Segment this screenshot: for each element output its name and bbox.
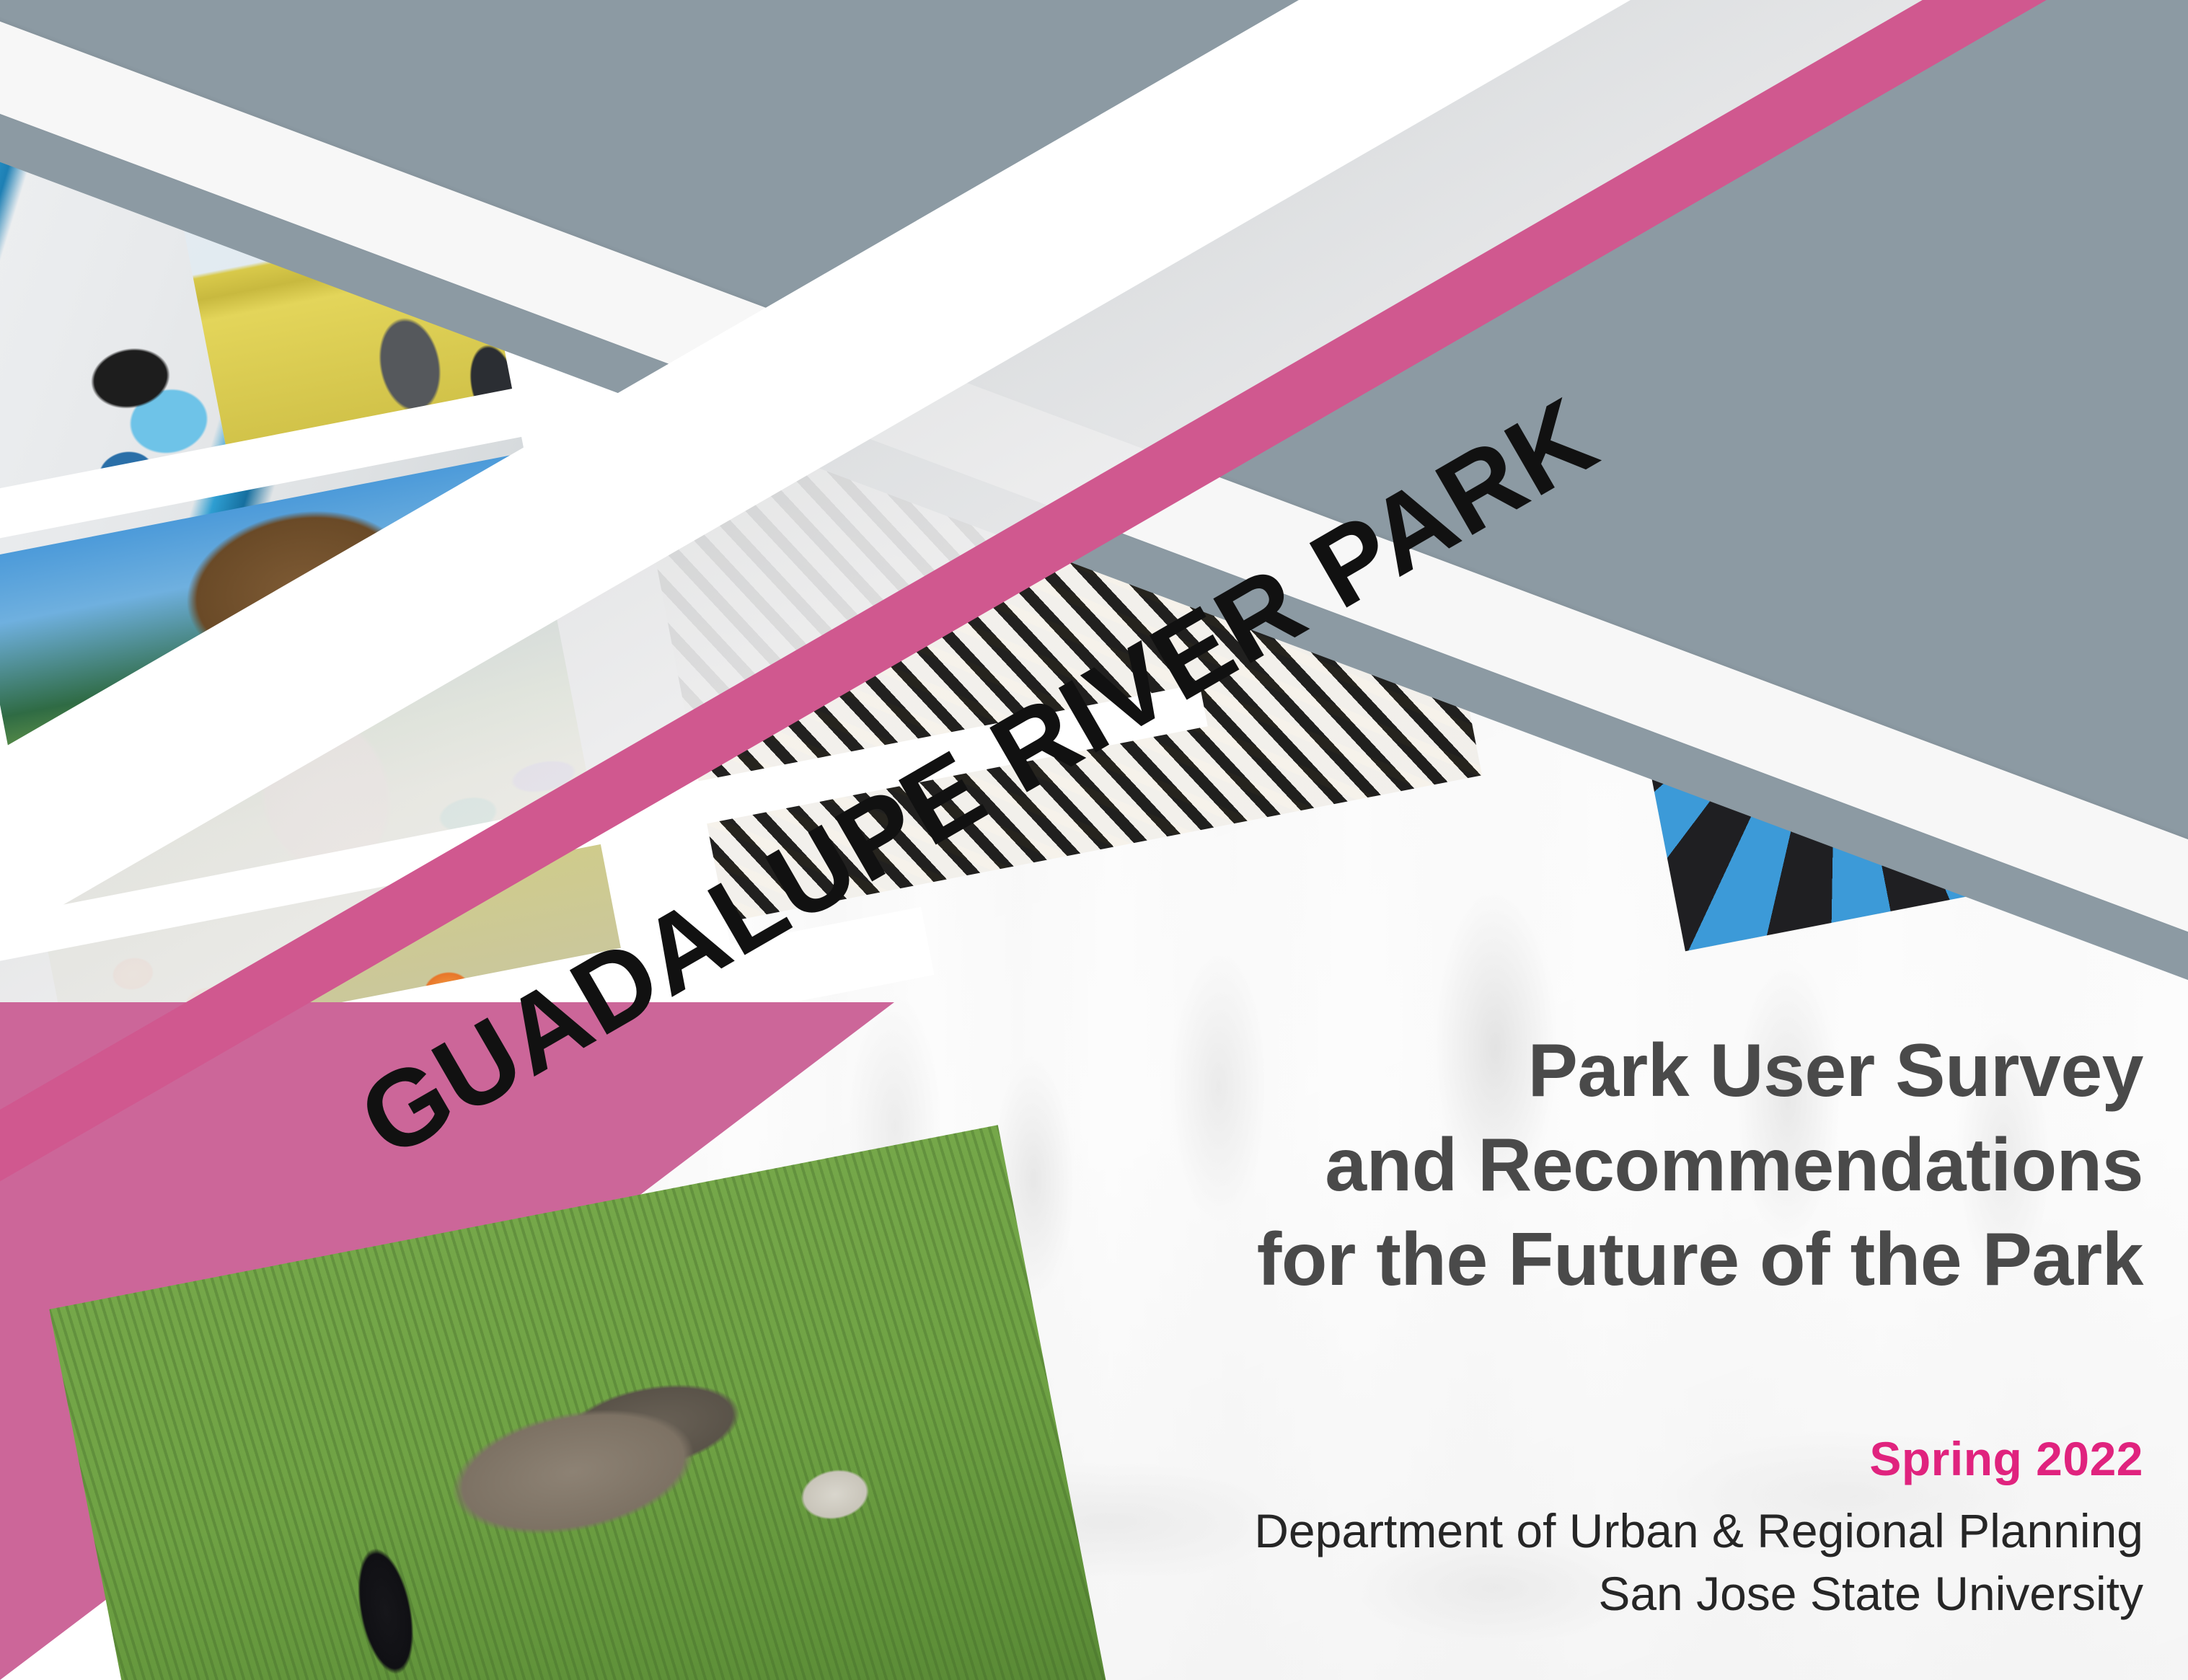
affiliation-department: Department of Urban & Regional Planning <box>1254 1500 2143 1562</box>
affiliation-block: Department of Urban & Regional Planning … <box>1254 1500 2143 1625</box>
report-cover: SJ SHARKIE GUADALUPE RIVER PARK Park Use… <box>0 0 2188 1680</box>
publication-season: Spring 2022 <box>1869 1431 2143 1486</box>
report-subtitle: Park User Survey and Recommendations for… <box>1257 1024 2143 1307</box>
subtitle-line-3: for the Future of the Park <box>1257 1213 2143 1307</box>
subtitle-line-1: Park User Survey <box>1257 1024 2143 1118</box>
affiliation-university: San Jose State University <box>1254 1562 2143 1625</box>
subtitle-line-2: and Recommendations <box>1257 1118 2143 1213</box>
